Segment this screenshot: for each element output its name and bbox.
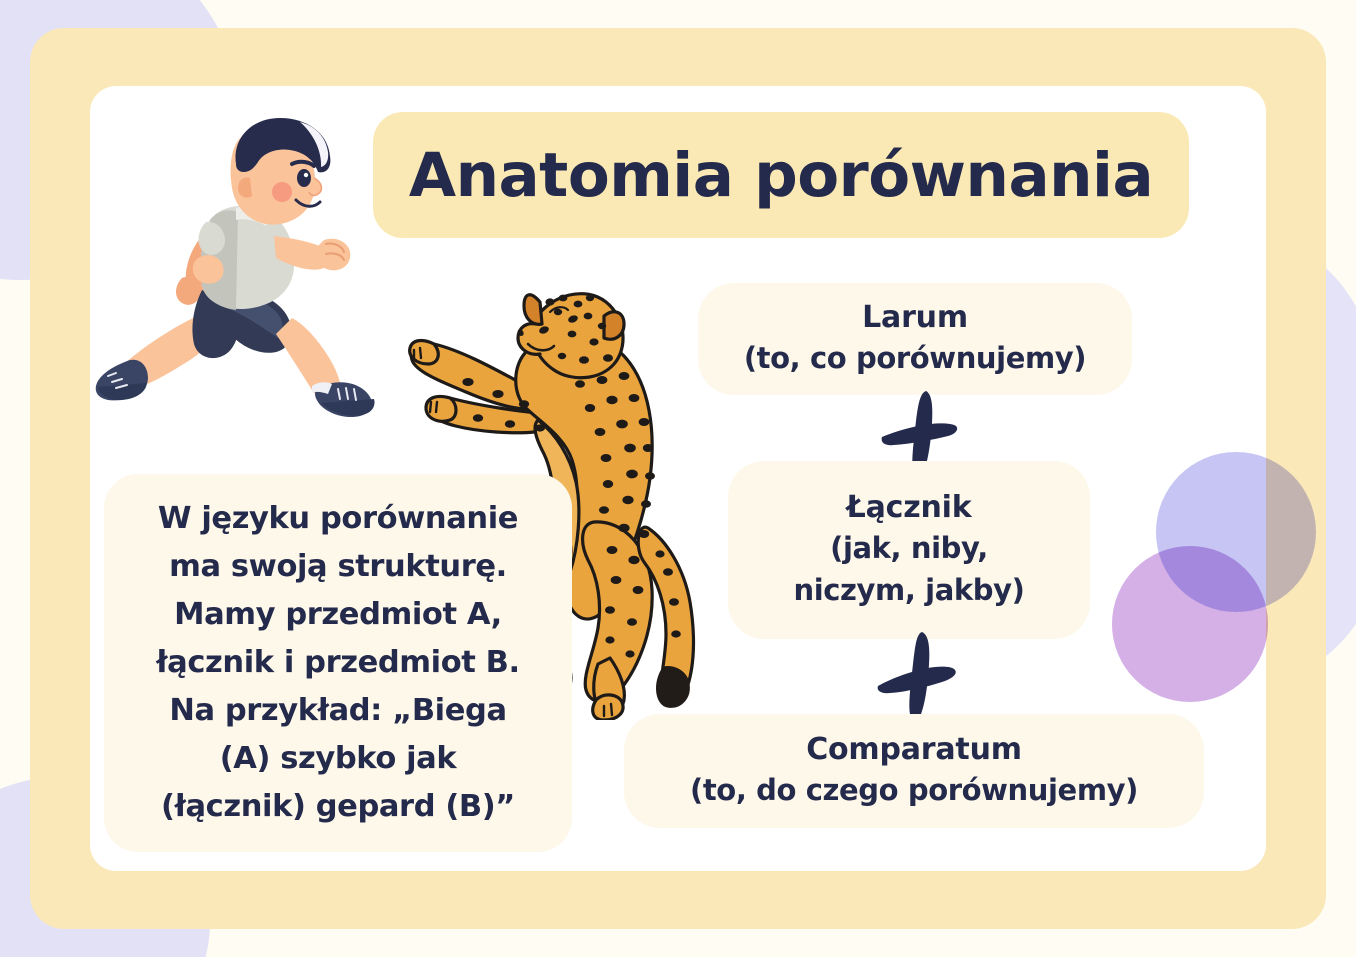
page-title: Anatomia porównania <box>409 140 1153 211</box>
structure-card-comparatum-subtitle: (to, do czego porównujemy) <box>690 769 1138 811</box>
structure-card-lacznik-subtitle: (jak, niby, niczym, jakby) <box>793 527 1024 611</box>
structure-card-larum: Larum (to, co porównujemy) <box>698 283 1132 395</box>
plus-icon <box>868 628 964 724</box>
structure-card-lacznik-heading: Łącznik <box>847 489 972 527</box>
poster-title-card: Anatomia porównania <box>373 112 1189 238</box>
explanation-card: W języku porównanie ma swoją strukturę. … <box>104 474 572 852</box>
explanation-text: W języku porównanie ma swoją strukturę. … <box>156 495 519 831</box>
structure-card-larum-subtitle: (to, co porównujemy) <box>744 337 1086 379</box>
structure-card-comparatum: Comparatum (to, do czego porównujemy) <box>624 714 1204 828</box>
running-boy-illustration <box>86 108 382 438</box>
structure-card-comparatum-heading: Comparatum <box>806 731 1022 769</box>
structure-card-lacznik: Łącznik (jak, niby, niczym, jakby) <box>728 461 1090 639</box>
poster-canvas: Anatomia porównania W języku porównanie … <box>0 0 1356 957</box>
decor-circle-purple <box>1112 546 1268 702</box>
structure-card-larum-heading: Larum <box>862 299 968 337</box>
